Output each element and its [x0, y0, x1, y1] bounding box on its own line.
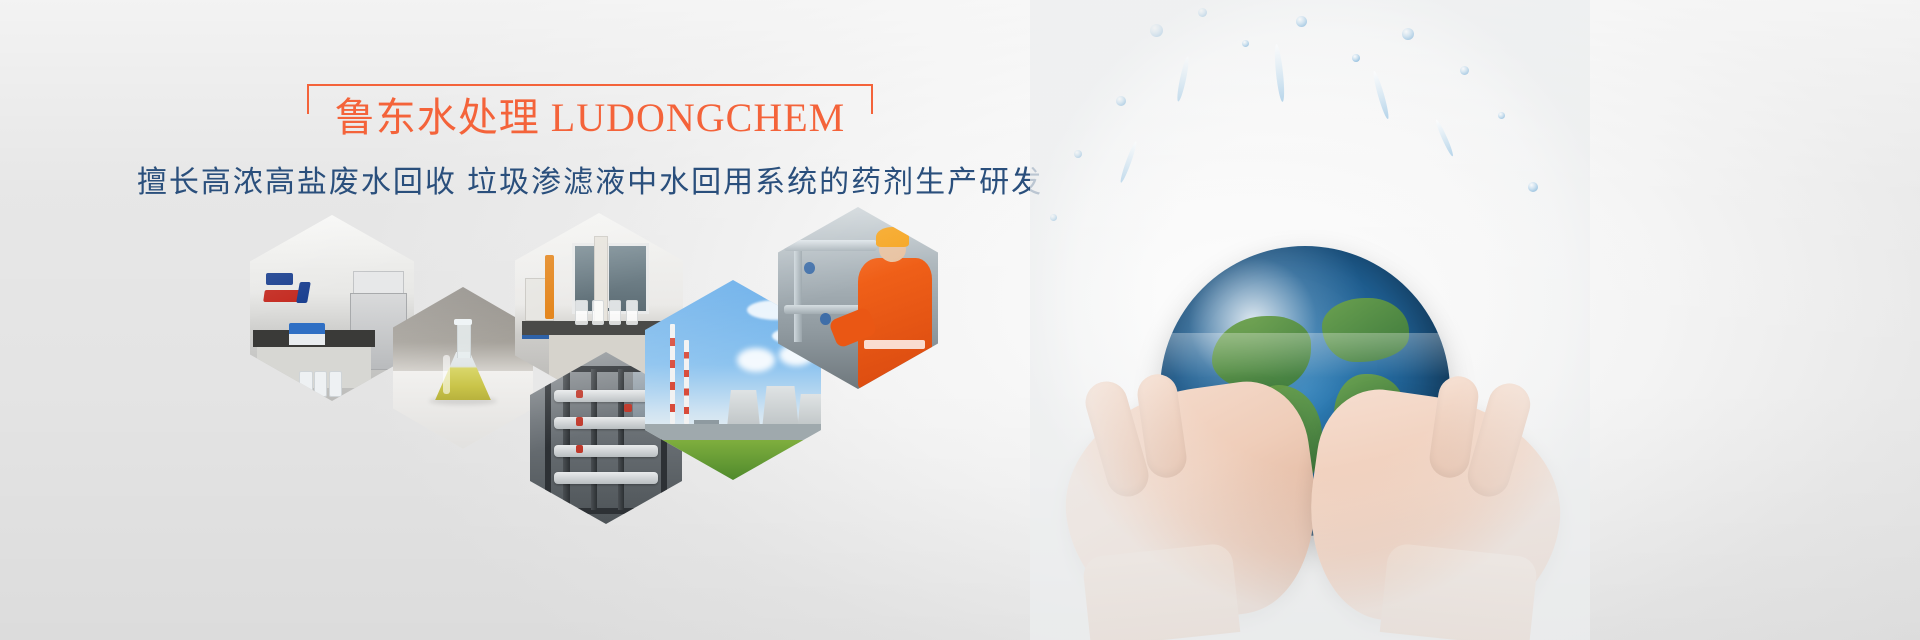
hexagon-collage — [230, 215, 970, 515]
collage-label: 企业实景图集 — [0, 0, 1, 1]
collage-hex-lab-room[interactable] — [250, 215, 414, 401]
collage-hex-flask[interactable] — [393, 287, 533, 449]
headline-block: 鲁东水处理 LUDONGCHEM 擅长高浓高盐废水回收 垃圾渗滤液中水回用系统的… — [0, 96, 1180, 201]
banner-subtitle: 擅长高浓高盐废水回收 垃圾渗滤液中水回用系统的药剂生产研发 — [0, 157, 1180, 201]
flask-photo — [393, 287, 533, 449]
title-bracket-left-icon — [307, 84, 309, 114]
title-top-rule — [307, 84, 873, 86]
cupped-hands — [1060, 372, 1560, 640]
brand-title: 鲁东水处理 LUDONGCHEM — [335, 96, 845, 141]
landmass — [1322, 298, 1409, 362]
right-wrist — [1380, 542, 1539, 640]
title-bracket-right-icon — [871, 84, 873, 114]
hero-banner: 鲁东水处理 LUDONGCHEM 擅长高浓高盐废水回收 垃圾渗滤液中水回用系统的… — [0, 0, 1920, 640]
water-globe-hero: 水花飞溅与地球 — [1030, 0, 1590, 640]
left-wrist — [1082, 542, 1241, 640]
brand-title-wrap: 鲁东水处理 LUDONGCHEM — [309, 96, 871, 141]
lab-room-photo — [250, 215, 414, 401]
wall-slogan-graphic — [261, 271, 320, 316]
